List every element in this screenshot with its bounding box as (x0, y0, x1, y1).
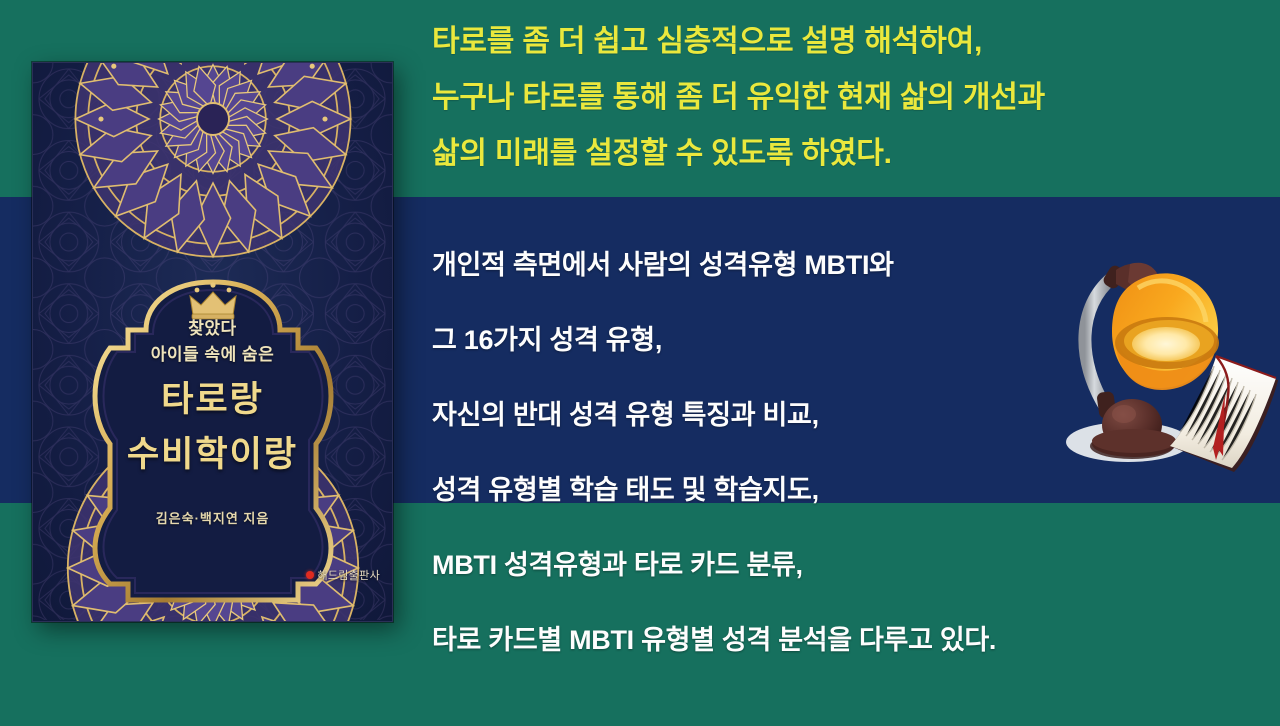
heading-line-2: 누구나 타로를 통해 좀 더 유익한 현재 삶의 개선과 (432, 70, 1262, 126)
lamp-bulb-glow (1132, 327, 1200, 361)
publisher-mark: 해드림출판사 (306, 567, 380, 583)
cover-text-block: 찾았다 아이들 속에 숨은 타로랑 수비학이랑 김은숙·백지연 지음 (33, 316, 392, 527)
cover-authors: 김은숙·백지연 지음 (33, 508, 392, 527)
publisher-name: 해드림출판사 (317, 567, 380, 583)
slide-root: 찾았다 아이들 속에 숨은 타로랑 수비학이랑 김은숙·백지연 지음 해드림출판… (0, 0, 1280, 726)
cover-title-line2: 수비학이랑 (33, 431, 392, 478)
mandala-ornament-top (53, 62, 373, 279)
cover-title-line1: 타로랑 (33, 376, 392, 423)
crown-icon (184, 281, 242, 321)
heading-line-1: 타로를 좀 더 쉽고 심층적으로 설명 해석하여, (432, 14, 1262, 70)
body-line-5: MBTI 성격유형과 타로 카드 분류, (432, 528, 1262, 603)
heading-block: 타로를 좀 더 쉽고 심층적으로 설명 해석하여, 누구나 타로를 통해 좀 더… (432, 14, 1262, 182)
lamp-and-book-illustration (1020, 210, 1280, 520)
body-line-6: 타로 카드별 MBTI 유형별 성격 분석을 다루고 있다. (432, 603, 1262, 678)
cover-subtitle-line2: 아이들 속에 숨은 (33, 342, 392, 368)
heading-line-3: 삶의 미래를 설정할 수 있도록 하였다. (432, 126, 1262, 182)
book-cover-front: 찾았다 아이들 속에 숨은 타로랑 수비학이랑 김은숙·백지연 지음 해드림출판… (32, 62, 393, 622)
book-cover: 찾았다 아이들 속에 숨은 타로랑 수비학이랑 김은숙·백지연 지음 해드림출판… (32, 62, 393, 622)
red-dot-logo-icon (306, 571, 314, 579)
cover-subtitle-line1: 찾았다 (33, 316, 392, 342)
lamp-arm (1085, 278, 1112, 408)
